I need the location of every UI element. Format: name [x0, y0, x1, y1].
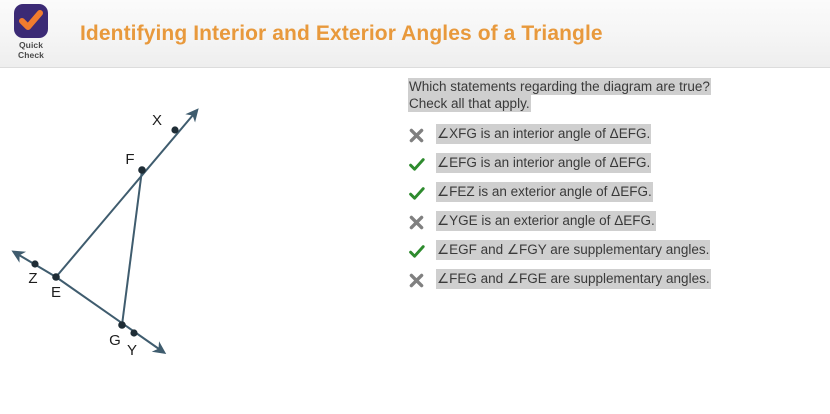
ray-EX: [56, 115, 193, 277]
x-icon: [409, 270, 437, 289]
point-Z: [31, 260, 38, 267]
option-label: ∠XFG is an interior angle of ΔEFG.: [437, 125, 650, 143]
option-row[interactable]: ∠XFG is an interior angle of ΔEFG.: [409, 125, 809, 154]
triangle-diagram: X F Z E G Y: [0, 68, 400, 414]
label-Z: Z: [28, 270, 37, 287]
option-label: ∠FEG and ∠FGE are supplementary angles.: [437, 270, 710, 288]
point-Y: [130, 329, 137, 336]
label-Y: Y: [127, 342, 137, 359]
ray-EY: [56, 277, 159, 349]
point-F: [138, 166, 146, 174]
option-label: ∠EGF and ∠FGY are supplementary angles.: [437, 241, 709, 259]
label-E: E: [51, 284, 61, 301]
quick-check-label-line2: Check: [8, 50, 54, 60]
option-label: ∠EFG is an interior angle of ΔEFG.: [437, 154, 650, 172]
check-icon: [409, 183, 437, 202]
question-panel: Which statements regarding the diagram a…: [409, 78, 809, 299]
segment-FG: [122, 170, 142, 325]
option-row[interactable]: ∠FEZ is an exterior angle of ΔEFG.: [409, 183, 809, 212]
quick-check-label-line1: Quick: [8, 40, 54, 50]
check-icon: [19, 10, 43, 32]
option-row[interactable]: ∠EGF and ∠FGY are supplementary angles.: [409, 241, 809, 270]
point-E: [52, 273, 60, 281]
x-icon: [409, 212, 437, 231]
option-row[interactable]: ∠YGE is an exterior angle of ΔEFG.: [409, 212, 809, 241]
check-icon: [409, 241, 437, 260]
option-label: ∠YGE is an exterior angle of ΔEFG.: [437, 212, 655, 230]
question-prompt: Which statements regarding the diagram a…: [409, 78, 809, 112]
label-X: X: [152, 112, 162, 129]
question-line-1: Which statements regarding the diagram a…: [409, 79, 710, 94]
app-header: Quick Check Identifying Interior and Ext…: [0, 0, 830, 68]
label-F: F: [125, 151, 134, 168]
option-row[interactable]: ∠EFG is an interior angle of ΔEFG.: [409, 154, 809, 183]
label-G: G: [109, 332, 121, 349]
page-title: Identifying Interior and Exterior Angles…: [80, 22, 603, 46]
check-icon: [409, 154, 437, 173]
question-line-2: Check all that apply.: [409, 96, 530, 111]
options-list: ∠XFG is an interior angle of ΔEFG. ∠EFG …: [409, 125, 809, 299]
option-row[interactable]: ∠FEG and ∠FGE are supplementary angles.: [409, 270, 809, 299]
option-label: ∠FEZ is an exterior angle of ΔEFG.: [437, 183, 652, 201]
point-G: [118, 321, 126, 329]
quick-check-icon: [14, 4, 48, 38]
point-X: [171, 126, 178, 133]
x-icon: [409, 125, 437, 144]
quick-check-badge: Quick Check: [8, 4, 54, 60]
